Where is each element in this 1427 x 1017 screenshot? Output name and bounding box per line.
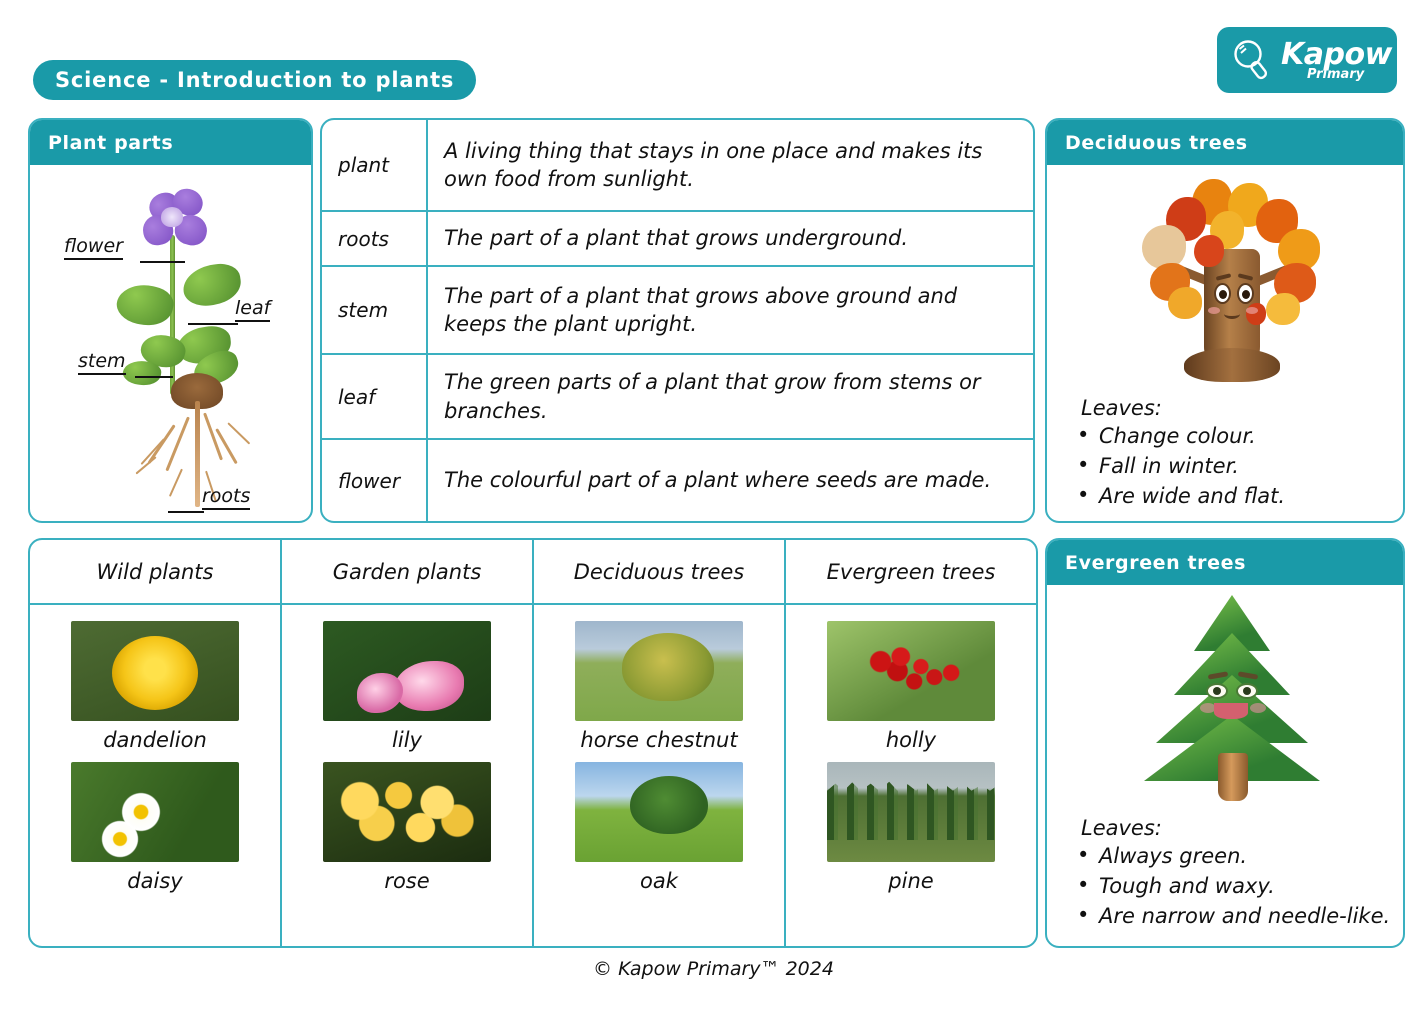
label-leaf: leaf bbox=[235, 297, 270, 322]
column-garden-plants: lily rose bbox=[282, 605, 534, 946]
label-flower: flower bbox=[64, 235, 123, 260]
glossary-term: roots bbox=[322, 212, 428, 265]
column-wild-plants: dandelion daisy bbox=[30, 605, 282, 946]
pine-photo bbox=[827, 762, 995, 862]
caption: holly bbox=[886, 728, 936, 752]
caption: pine bbox=[888, 869, 933, 893]
caption: oak bbox=[640, 869, 678, 893]
horse-chestnut-photo bbox=[575, 621, 743, 721]
evergreen-leaves-label: Leaves: bbox=[1047, 810, 1403, 842]
oak-photo bbox=[575, 762, 743, 862]
glossary-term: stem bbox=[322, 267, 428, 353]
autumn-tree-image bbox=[1047, 165, 1403, 390]
plant-parts-header: Plant parts bbox=[30, 120, 311, 165]
glossary-table: plant A living thing that stays in one p… bbox=[320, 118, 1035, 523]
dandelion-photo bbox=[71, 621, 239, 721]
glossary-term: flower bbox=[322, 440, 428, 521]
deciduous-header: Deciduous trees bbox=[1047, 120, 1403, 165]
column-deciduous-trees: horse chestnut oak bbox=[534, 605, 786, 946]
list-item: horse chestnut bbox=[575, 621, 743, 752]
plant-parts-card: Plant parts bbox=[28, 118, 313, 523]
evergreen-trees-card: Evergreen trees Leaves: Always green. To… bbox=[1045, 538, 1405, 948]
caption: dandelion bbox=[103, 728, 207, 752]
glossary-definition: The part of a plant that grows above gro… bbox=[428, 267, 1033, 353]
list-item: Fall in winter. bbox=[1099, 452, 1403, 482]
rose-photo bbox=[323, 762, 491, 862]
table-row: roots The part of a plant that grows und… bbox=[322, 212, 1033, 267]
list-item: Are narrow and needle-like. bbox=[1099, 902, 1403, 932]
logo-sub: Primary bbox=[1307, 68, 1364, 81]
examples-body: dandelion daisy lily rose horse chestnut bbox=[30, 605, 1036, 946]
list-item: Always green. bbox=[1099, 842, 1403, 872]
deciduous-bullet-list: Change colour. Fall in winter. Are wide … bbox=[1047, 422, 1403, 511]
label-stem: stem bbox=[78, 350, 126, 375]
list-item: pine bbox=[827, 762, 995, 893]
footer-copyright: © Kapow Primary™ 2024 bbox=[0, 958, 1427, 980]
deciduous-trees-card: Deciduous trees bbox=[1045, 118, 1405, 523]
list-item: lily bbox=[323, 621, 491, 752]
logo-brand: Kapow bbox=[1281, 40, 1392, 70]
daisy-photo bbox=[71, 762, 239, 862]
caption: daisy bbox=[127, 869, 182, 893]
evergreen-bullet-list: Always green. Tough and waxy. Are narrow… bbox=[1047, 842, 1403, 931]
glossary-term: plant bbox=[322, 120, 428, 210]
table-row: leaf The green parts of a plant that gro… bbox=[322, 355, 1033, 440]
evergreen-header: Evergreen trees bbox=[1047, 540, 1403, 585]
holly-photo bbox=[827, 621, 995, 721]
kapow-logo: Kapow Primary bbox=[1217, 27, 1397, 93]
label-roots: roots bbox=[202, 485, 250, 510]
plant-examples-grid: Wild plants Garden plants Deciduous tree… bbox=[28, 538, 1038, 948]
evergreen-heading: Evergreen trees bbox=[1065, 552, 1246, 574]
caption: lily bbox=[392, 728, 422, 752]
column-header-garden-plants: Garden plants bbox=[282, 540, 534, 603]
list-item: Change colour. bbox=[1099, 422, 1403, 452]
deciduous-leaves-label: Leaves: bbox=[1047, 390, 1403, 422]
lily-photo bbox=[323, 621, 491, 721]
column-header-deciduous-trees: Deciduous trees bbox=[534, 540, 786, 603]
violet-plant-image bbox=[125, 177, 265, 517]
column-evergreen-trees: holly pine bbox=[786, 605, 1036, 946]
list-item: oak bbox=[575, 762, 743, 893]
page-title-banner: Science - Introduction to plants bbox=[33, 60, 476, 100]
column-header-evergreen-trees: Evergreen trees bbox=[786, 540, 1036, 603]
glossary-definition: The part of a plant that grows undergrou… bbox=[428, 212, 1033, 265]
glossary-definition: The green parts of a plant that grow fro… bbox=[428, 355, 1033, 438]
glossary-term: leaf bbox=[322, 355, 428, 438]
page-title: Science - Introduction to plants bbox=[55, 68, 454, 92]
caption: horse chestnut bbox=[580, 728, 737, 752]
list-item: daisy bbox=[71, 762, 239, 893]
table-row: flower The colourful part of a plant whe… bbox=[322, 440, 1033, 521]
list-item: Are wide and flat. bbox=[1099, 482, 1403, 512]
table-row: plant A living thing that stays in one p… bbox=[322, 120, 1033, 212]
magnifying-glass-icon bbox=[1229, 37, 1275, 83]
column-header-wild-plants: Wild plants bbox=[30, 540, 282, 603]
plant-diagram: flower leaf stem roots bbox=[30, 165, 311, 521]
pine-tree-image bbox=[1047, 585, 1403, 810]
plant-parts-heading: Plant parts bbox=[48, 132, 173, 154]
list-item: holly bbox=[827, 621, 995, 752]
deciduous-heading: Deciduous trees bbox=[1065, 132, 1248, 154]
examples-header-row: Wild plants Garden plants Deciduous tree… bbox=[30, 540, 1036, 605]
list-item: Tough and waxy. bbox=[1099, 872, 1403, 902]
glossary-definition: A living thing that stays in one place a… bbox=[428, 120, 1033, 210]
list-item: dandelion bbox=[71, 621, 239, 752]
list-item: rose bbox=[323, 762, 491, 893]
glossary-definition: The colourful part of a plant where seed… bbox=[428, 440, 1033, 521]
caption: rose bbox=[384, 869, 429, 893]
table-row: stem The part of a plant that grows abov… bbox=[322, 267, 1033, 355]
